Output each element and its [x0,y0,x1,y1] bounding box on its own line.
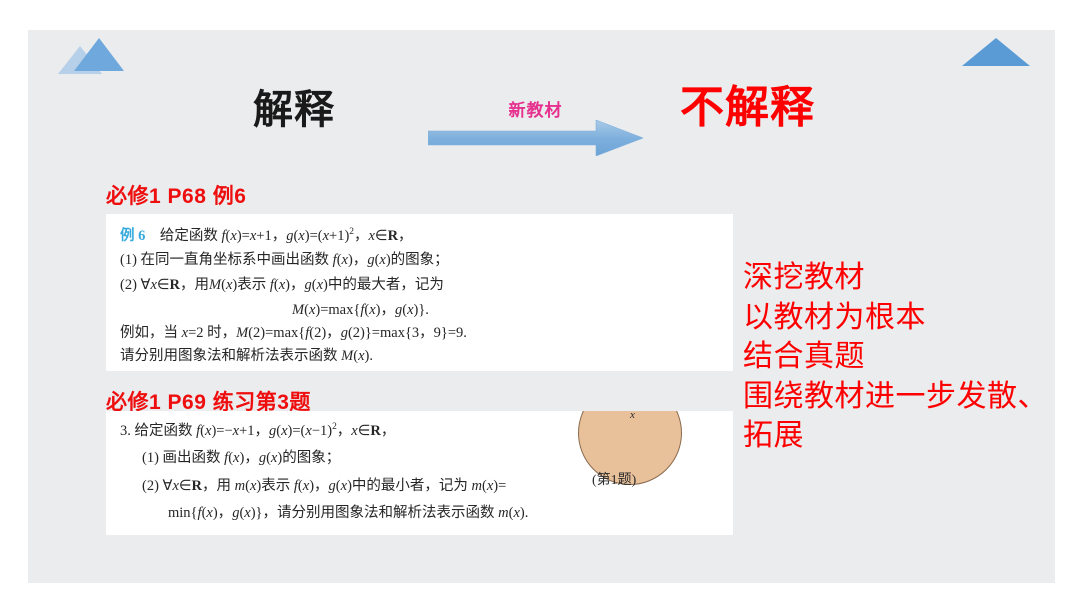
excerpt-1-line-5: 例如，当 x=2 时，M(2)=max{f(2)，g(2)}=max{3，9}=… [120,326,467,341]
example-label: 例 6 [120,228,145,244]
header-row: 解释 新教材 不解释 [28,78,1055,168]
excerpt-2-line-3: (2) ∀x∈R，用 m(x)表示 f(x)，g(x)中的最小者，记为 m(x)… [142,479,506,494]
note-line-5: 拓展 [743,416,1080,456]
note-line-4: 围绕教材进一步发散、 [743,377,1080,417]
page-title-right: 不解释 [680,86,815,130]
excerpt-2-figure: x (第1题) [578,411,686,481]
notes-block: 深挖教材 以教材为根本 结合真题 围绕教材进一步发散、 拓展 [743,258,1080,456]
section-heading-1: 必修1 P68 例6 [106,180,246,210]
excerpt-1-line-6: 请分别用图象法和解析法表示函数 M(x). [120,349,373,364]
excerpt-2-line-4: min{f(x)，g(x)}，请分别用图象法和解析法表示函数 m(x). [168,506,528,521]
figure-x-label: x [630,411,635,421]
excerpt-1-line-2: (1) 在同一直角坐标系中画出函数 f(x)，g(x)的图象； [120,253,449,268]
note-line-2: 以教材为根本 [743,298,1080,338]
textbook-excerpt-2: 3. 给定函数 f(x)=−x+1，g(x)=(x−1)2，x∈R， (1) 画… [106,411,733,535]
note-line-1: 深挖教材 [743,258,1080,298]
triangle-decor-left-front [74,38,124,71]
arrow-label: 新教材 [428,96,643,121]
excerpt-1-line-1: 例 6 给定函数 f(x)=x+1，g(x)=(x+1)2，x∈R， [120,228,413,243]
page-title-left: 解释 [253,90,335,130]
right-arrow-icon [428,120,643,156]
figure-caption: (第1题) [592,469,636,489]
excerpt-2-line-1: 3. 给定函数 f(x)=−x+1，g(x)=(x−1)2，x∈R， [120,423,395,438]
excerpt-1-line-3: (2) ∀x∈R，用M(x)表示 f(x)，g(x)中的最大者，记为 [120,278,444,293]
note-line-3: 结合真题 [743,337,1080,377]
excerpt-1-line-4: M(x)=max{f(x)，g(x)}. [292,303,429,318]
slide-canvas: 解释 新教材 不解释 必修1 P68 例6 例 6 给定函数 [28,30,1055,583]
textbook-excerpt-1: 例 6 给定函数 f(x)=x+1，g(x)=(x+1)2，x∈R， (1) 在… [106,214,733,371]
excerpt-2-line-2: (1) 画出函数 f(x)，g(x)的图象； [142,451,340,466]
triangle-decor-right [962,38,1030,66]
